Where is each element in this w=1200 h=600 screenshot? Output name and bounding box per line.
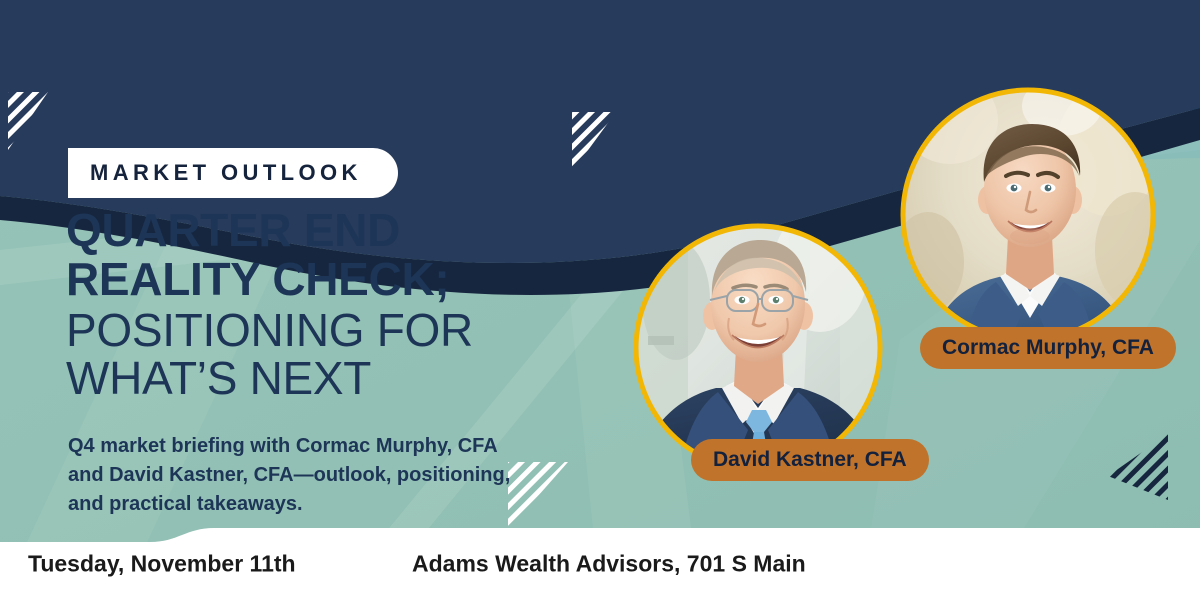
eyebrow-badge: MARKET OUTLOOK	[68, 148, 398, 198]
event-date: Tuesday, November 11th	[28, 551, 296, 578]
speaker-name-badge-kastner: David Kastner, CFA	[691, 439, 929, 481]
footer-content: Tuesday, November 11th Adams Wealth Advi…	[0, 528, 1200, 600]
headline-line-1: QUARTER END	[66, 208, 626, 253]
event-banner: MARKET OUTLOOK QUARTER END REALITY CHECK…	[0, 0, 1200, 600]
headline-line-4: WHAT’S NEXT	[66, 356, 626, 401]
event-description: Q4 market briefing with Cormac Murphy, C…	[68, 432, 538, 519]
eyebrow-label: MARKET OUTLOOK	[90, 160, 362, 186]
speaker-name-badge-murphy: Cormac Murphy, CFA	[920, 327, 1176, 369]
headline-line-2: REALITY CHECK;	[66, 257, 626, 302]
event-venue: Adams Wealth Advisors, 701 S Main	[412, 551, 806, 578]
page-title: QUARTER END REALITY CHECK; POSITIONING F…	[66, 208, 626, 401]
headline-line-3: POSITIONING FOR	[66, 308, 626, 353]
